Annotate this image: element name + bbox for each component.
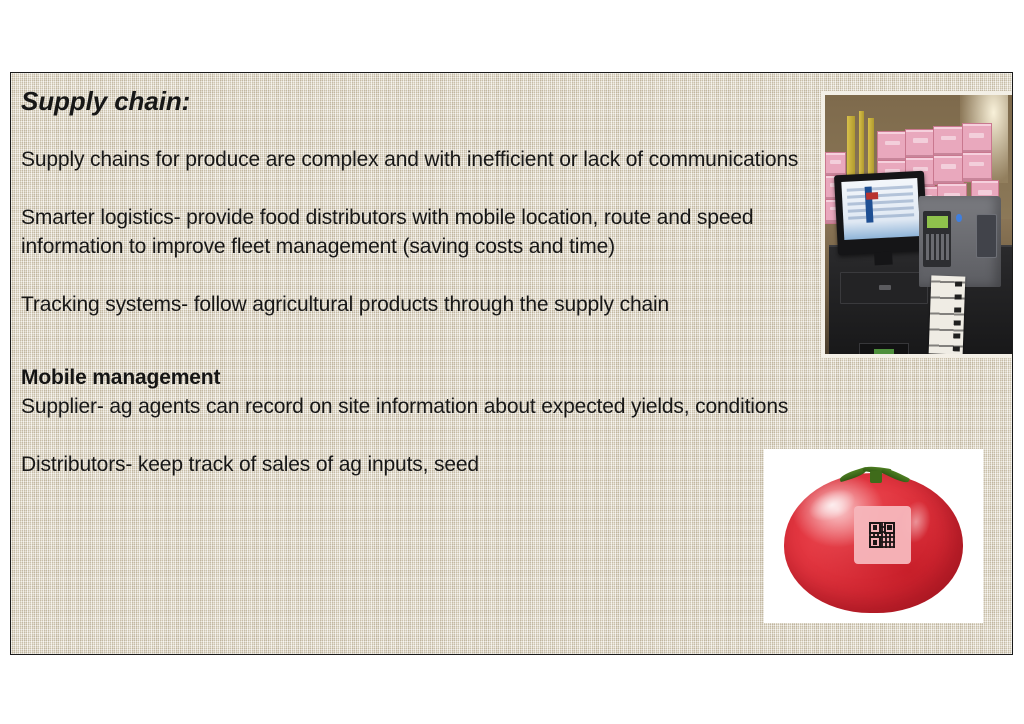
slide-page: Supply chain: Supply chains for produce …: [0, 0, 1024, 724]
paragraph-supplier-ag-agents: Supplier- ag agents can record on site i…: [21, 392, 816, 421]
qr-finder-pattern: [869, 536, 881, 548]
paragraph-tracking-systems: Tracking systems- follow agricultural pr…: [21, 290, 816, 319]
cart-drawer: [840, 272, 928, 304]
paragraph-smarter-logistics: Smarter logistics- provide food distribu…: [21, 203, 816, 261]
terminal-screen: [842, 178, 920, 240]
printer-lcd-display: [927, 216, 948, 228]
qr-code-pattern: [869, 522, 895, 549]
screen-row: [848, 213, 914, 219]
produce-box: [962, 123, 992, 153]
produce-box: [962, 152, 992, 182]
screen-row: [847, 199, 913, 205]
stem-nub: [870, 471, 882, 484]
photo-frame: [764, 449, 983, 623]
touchscreen-terminal: [834, 170, 928, 255]
slide-title: Supply chain:: [21, 87, 816, 117]
screen-row: [848, 206, 914, 212]
screen-row: [847, 192, 913, 198]
printer-status-led: [956, 214, 962, 222]
warehouse-labeling-station-photo: [821, 91, 1013, 358]
paragraph-spacer: [21, 421, 816, 450]
printer-media-window: [976, 214, 998, 258]
scanner-device: [859, 343, 910, 354]
photo-frame: [825, 95, 1012, 354]
stem-leaf: [881, 466, 910, 485]
tomato-qr-code-photo: [764, 449, 983, 623]
terminal-stand: [874, 251, 893, 265]
produce-box: [933, 126, 963, 156]
printed-label-strip: [928, 276, 964, 354]
produce-box: [905, 129, 935, 159]
tomato-stem: [843, 465, 909, 489]
qr-code-label: [854, 506, 911, 563]
qr-finder-pattern: [884, 522, 896, 534]
produce-box: [877, 131, 907, 161]
paragraph-supply-chains-complex: Supply chains for produce are complex an…: [21, 145, 816, 174]
screen-red-highlight: [866, 192, 878, 200]
paragraph-distributors-sales: Distributors- keep track of sales of ag …: [21, 450, 816, 479]
slide-canvas: Supply chain: Supply chains for produce …: [10, 72, 1013, 655]
screen-row: [847, 185, 913, 191]
slide-text-column: Supply chain: Supply chains for produce …: [21, 87, 816, 479]
section-spacer: [21, 319, 816, 363]
printer-control-panel: [923, 211, 951, 267]
printer-keypad: [926, 234, 948, 260]
thermal-label-printer: [919, 196, 1001, 287]
qr-finder-pattern: [869, 522, 881, 534]
produce-box: [825, 152, 846, 177]
produce-box: [933, 155, 963, 185]
section-heading-mobile-management: Mobile management: [21, 363, 816, 392]
